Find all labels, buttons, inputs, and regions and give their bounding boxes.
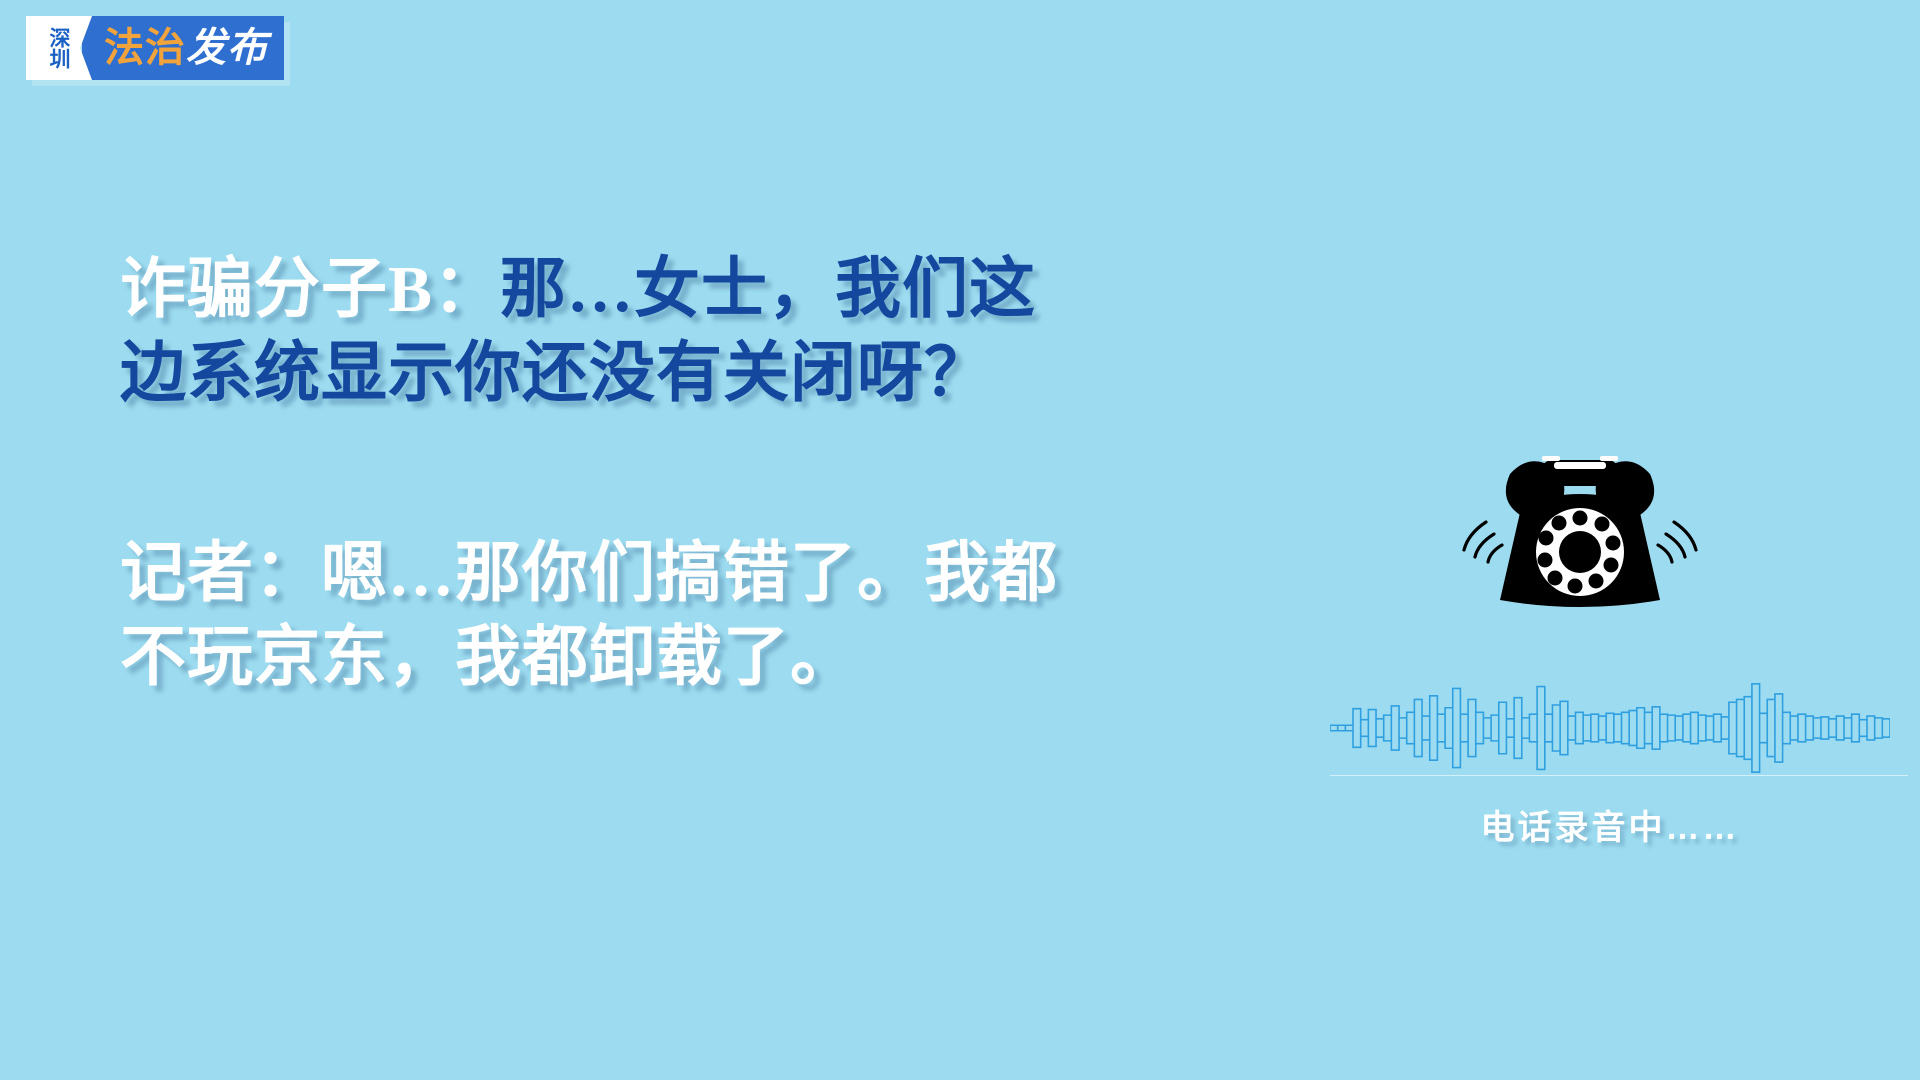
logo-city-text: 深圳 [44, 22, 68, 74]
speaker-label: 诈骗分子B： [120, 253, 500, 326]
dialogue-line: 边系统显示你还没有关闭呀？ [120, 332, 1110, 416]
dialogue-line: 不玩京东，我都卸载了。 [120, 616, 1110, 700]
dialogue-paragraph-scammer: 诈骗分子B：那…女士，我们这 边系统显示你还没有关闭呀？ [120, 248, 1110, 416]
speech-text: 边系统显示你还没有关闭呀？ [120, 337, 991, 410]
logo-brand-text-2: 发布 [186, 28, 268, 68]
call-recording-panel: 电话录音中…… [1330, 430, 1890, 790]
audio-waveform [1330, 678, 1890, 778]
speech-text: 那…女士，我们这 [500, 253, 1036, 326]
brand-logo: 深圳 法治 发布 [26, 16, 284, 80]
waveform-baseline [1330, 775, 1908, 776]
dialogue-block: 诈骗分子B：那…女士，我们这 边系统显示你还没有关闭呀？ 记者：嗯…那你们搞错了… [120, 248, 1110, 700]
logo-brand-text-1: 法治 [104, 28, 186, 68]
dialogue-line: 诈骗分子B：那…女士，我们这 [120, 248, 1110, 332]
speaker-label: 记者： [120, 537, 321, 610]
dialogue-line: 记者：嗯…那你们搞错了。我都 [120, 532, 1110, 616]
telephone-icon [1450, 430, 1710, 610]
recording-status-label: 电话录音中…… [1330, 800, 1890, 849]
speech-text: 嗯…那你们搞错了。我都 [321, 537, 1058, 610]
speech-text: 不玩京东，我都卸载了。 [120, 621, 857, 694]
logo-brand-panel: 法治 发布 [82, 16, 284, 80]
dialogue-paragraph-reporter: 记者：嗯…那你们搞错了。我都 不玩京东，我都卸载了。 [120, 532, 1110, 700]
